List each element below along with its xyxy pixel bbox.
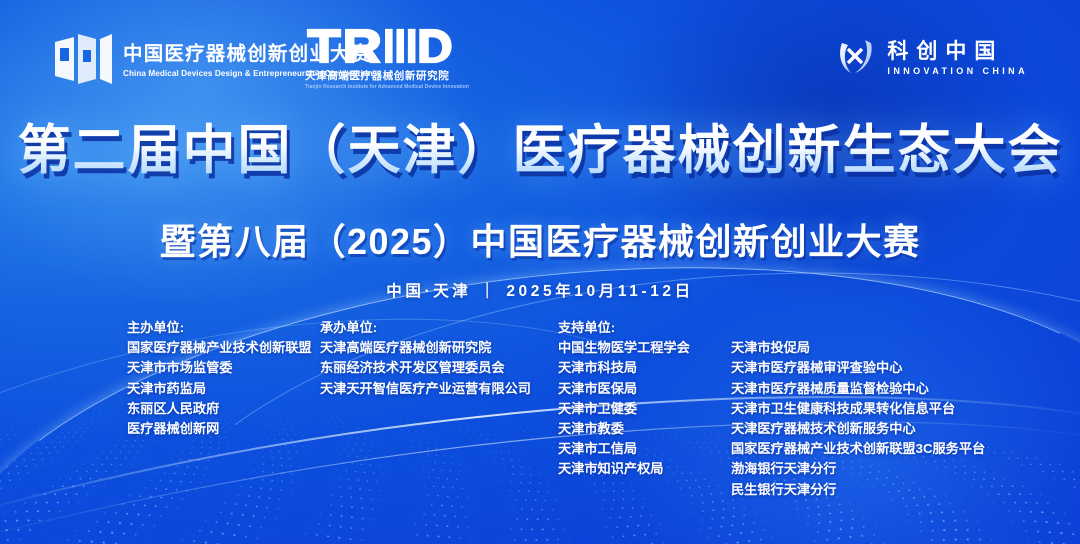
units-heading: 主办单位: [127, 318, 312, 338]
logo-innovation-china-cn: 科创中国 [887, 40, 1028, 63]
unit-item: 天津市市场监管委 [127, 358, 312, 378]
unit-item: 天津市卫生健康科技成果转化信息平台 [731, 399, 985, 419]
logo-innovation-china-en: INNOVATION CHINA [887, 66, 1028, 76]
unit-item: 天津市工信局 [558, 439, 690, 459]
units-column-host: 主办单位:国家医疗器械产业技术创新联盟天津市市场监管委天津市药监局东丽区人民政府… [127, 318, 312, 439]
unit-item: 天津高端医疗器械创新研究院 [320, 338, 531, 358]
units-column-organizer: 承办单位:天津高端医疗器械创新研究院东丽经济技术开发区管理委员会天津天开智信医疗… [320, 318, 531, 399]
unit-item: 天津天开智信医疗产业运营有限公司 [320, 379, 531, 399]
unit-item: 天津市医保局 [558, 379, 690, 399]
unit-item: 天津市知识产权局 [558, 459, 690, 479]
units-column-support-cont: 天津市投促局天津市医疗器械审评查验中心天津市医疗器械质量监督检验中心天津市卫生健… [731, 318, 985, 500]
unit-item: 天津市教委 [558, 419, 690, 439]
unit-item: 渤海银行天津分行 [731, 459, 985, 479]
unit-item: 东丽经济技术开发区管理委员会 [320, 358, 531, 378]
logo-bar: 中国医疗器械创新创业大赛 China Medical Devices Desig… [0, 26, 1080, 100]
unit-item: 天津市科技局 [558, 358, 690, 378]
logo-triid: 天津高端医疗器械创新研究院 Tianjin Research Institute… [305, 26, 465, 90]
unit-item: 民生银行天津分行 [731, 480, 985, 500]
organizing-units: 主办单位:国家医疗器械产业技术创新联盟天津市市场监管委天津市药监局东丽区人民政府… [0, 318, 1080, 498]
unit-item: 国家医疗器械产业技术创新联盟 [127, 338, 312, 358]
units-heading: 支持单位: [558, 318, 690, 338]
logo-triid-en: Tianjin Research Institute for Advanced … [305, 84, 447, 90]
units-column-support: 支持单位:中国生物医学工程学会天津市科技局天津市医保局天津市卫健委天津市教委天津… [558, 318, 690, 480]
innovation-china-icon [835, 36, 879, 80]
unit-item: 天津市投促局 [731, 338, 985, 358]
unit-item: 国家医疗器械产业技术创新联盟3C服务平台 [731, 439, 985, 459]
unit-item: 东丽区人民政府 [127, 399, 312, 419]
sub-title: 暨第八届（2025）中国医疗器械创新创业大赛 [0, 213, 1080, 265]
unit-item: 天津市药监局 [127, 379, 312, 399]
unit-item: 中国生物医学工程学会 [558, 338, 690, 358]
unit-item: 天津市医疗器械审评查验中心 [731, 358, 985, 378]
unit-item: 天津市医疗器械质量监督检验中心 [731, 379, 985, 399]
unit-item: 医疗器械创新网 [127, 419, 312, 439]
logo-innovation-china: 科创中国 INNOVATION CHINA [835, 36, 1028, 80]
conference-poster: 中国医疗器械创新创业大赛 China Medical Devices Desig… [0, 0, 1080, 544]
open-door-window-icon [52, 28, 114, 90]
units-heading: 承办单位: [320, 318, 531, 338]
units-heading-spacer [731, 318, 985, 338]
main-title: 第二届中国（天津）医疗器械创新生态大会 [0, 122, 1080, 179]
logo-triid-cn: 天津高端医疗器械创新研究院 [305, 68, 447, 83]
unit-item: 天津市卫健委 [558, 399, 690, 419]
location-date-line: 中国·天津 ｜ 2025年10月11-12日 [0, 279, 1080, 301]
triid-wordmark-icon [305, 26, 457, 66]
unit-item: 天津医疗器械技术创新服务中心 [731, 419, 985, 439]
